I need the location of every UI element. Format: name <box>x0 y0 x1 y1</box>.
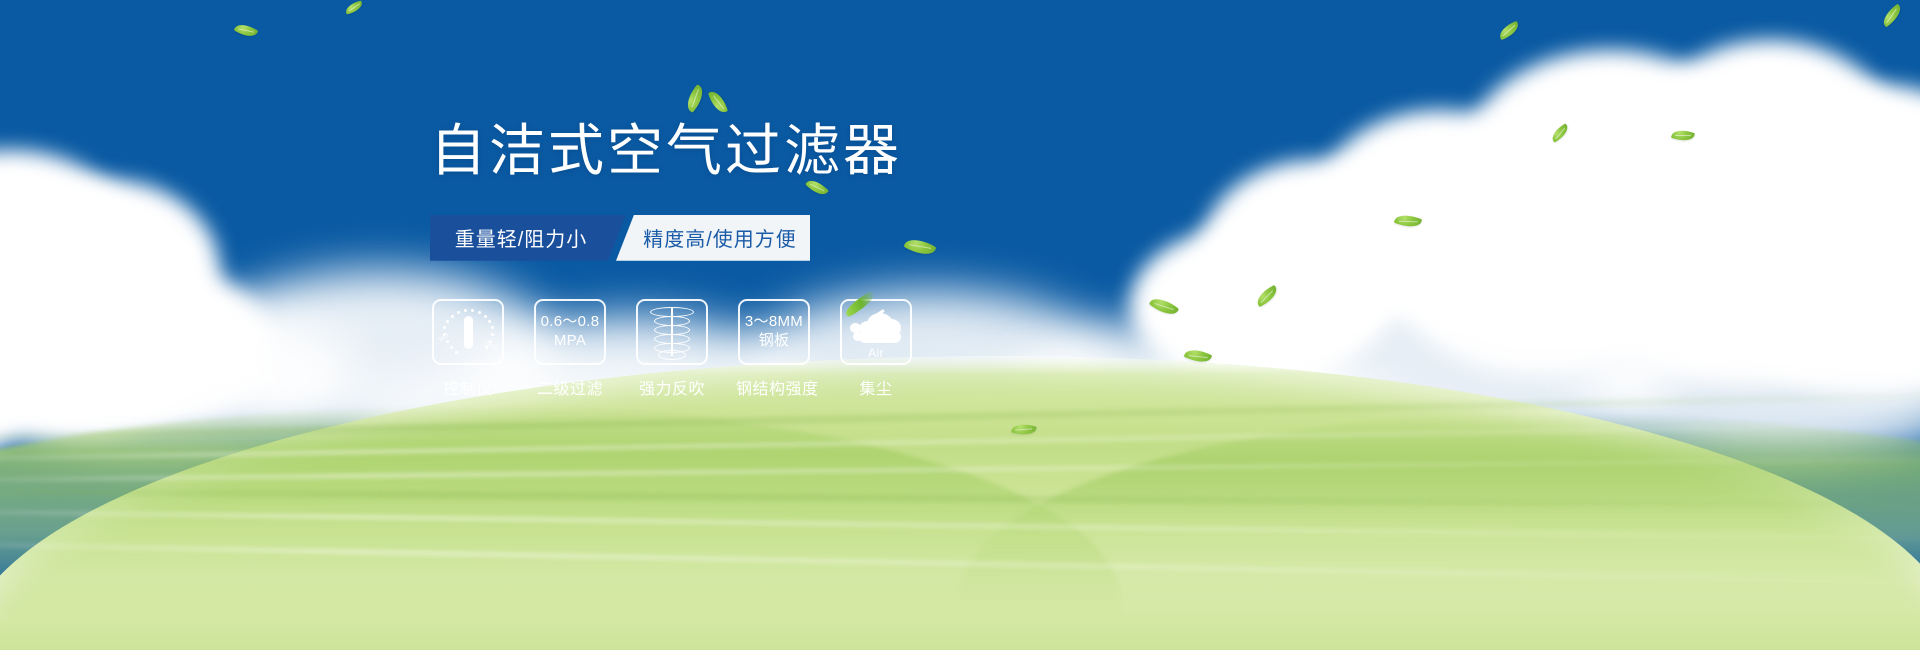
feature-label: 二级过滤 <box>532 375 608 399</box>
product-banner: 自洁式空气过滤器 重量轻/阻力小 精度高/使用方便 <box>0 0 1920 650</box>
feature-label: 强力反吹 <box>634 375 710 399</box>
tab-high-precision[interactable]: 精度高/使用方便 <box>616 215 810 261</box>
feature-icon-box: 3～8MM 钢板 <box>738 299 810 365</box>
feature-item-controller[interactable]: NO OFF 控制仪 <box>430 299 506 399</box>
feature-item-dust-collection[interactable]: Air 集尘 <box>838 299 914 399</box>
feature-icon-box: NO OFF <box>432 299 504 365</box>
feature-label: 控制仪 <box>430 375 506 399</box>
steel-text-icon: 3～8MM 钢板 <box>745 313 803 350</box>
page-title: 自洁式空气过滤器 <box>430 120 1070 183</box>
gauge-needle <box>464 316 473 349</box>
tab-light-weight[interactable]: 重量轻/阻力小 <box>430 215 626 261</box>
grass-hill-right <box>960 414 1920 604</box>
feature-tabs: 重量轻/阻力小 精度高/使用方便 <box>430 215 820 261</box>
air-cloud-icon: Air <box>847 307 905 357</box>
green-streak-icon <box>843 290 877 317</box>
feature-icon-box: Air <box>840 299 912 365</box>
feature-item-back-blow[interactable]: 强力反吹 <box>634 299 710 399</box>
feature-item-steel-strength[interactable]: 3～8MM 钢板 钢结构强度 <box>736 299 812 399</box>
air-label: Air <box>847 346 905 360</box>
gauge-icon: NO OFF <box>440 307 496 357</box>
feature-label: 钢结构强度 <box>736 375 812 399</box>
feature-icon-box <box>636 299 708 365</box>
feature-list: NO OFF 控制仪 0.6～0.8 MPA 二级过滤 <box>430 299 1070 399</box>
grass-hill-left <box>0 406 1120 616</box>
feature-icon-box: 0.6～0.8 MPA <box>534 299 606 365</box>
pressure-text-icon: 0.6～0.8 MPA <box>541 313 600 350</box>
banner-content: 自洁式空气过滤器 重量轻/阻力小 精度高/使用方便 <box>430 120 1070 399</box>
coil-icon <box>649 306 695 358</box>
gauge-off-label: OFF <box>483 339 498 353</box>
feature-label: 集尘 <box>838 375 914 399</box>
feature-item-two-stage-filter[interactable]: 0.6～0.8 MPA 二级过滤 <box>532 299 608 399</box>
